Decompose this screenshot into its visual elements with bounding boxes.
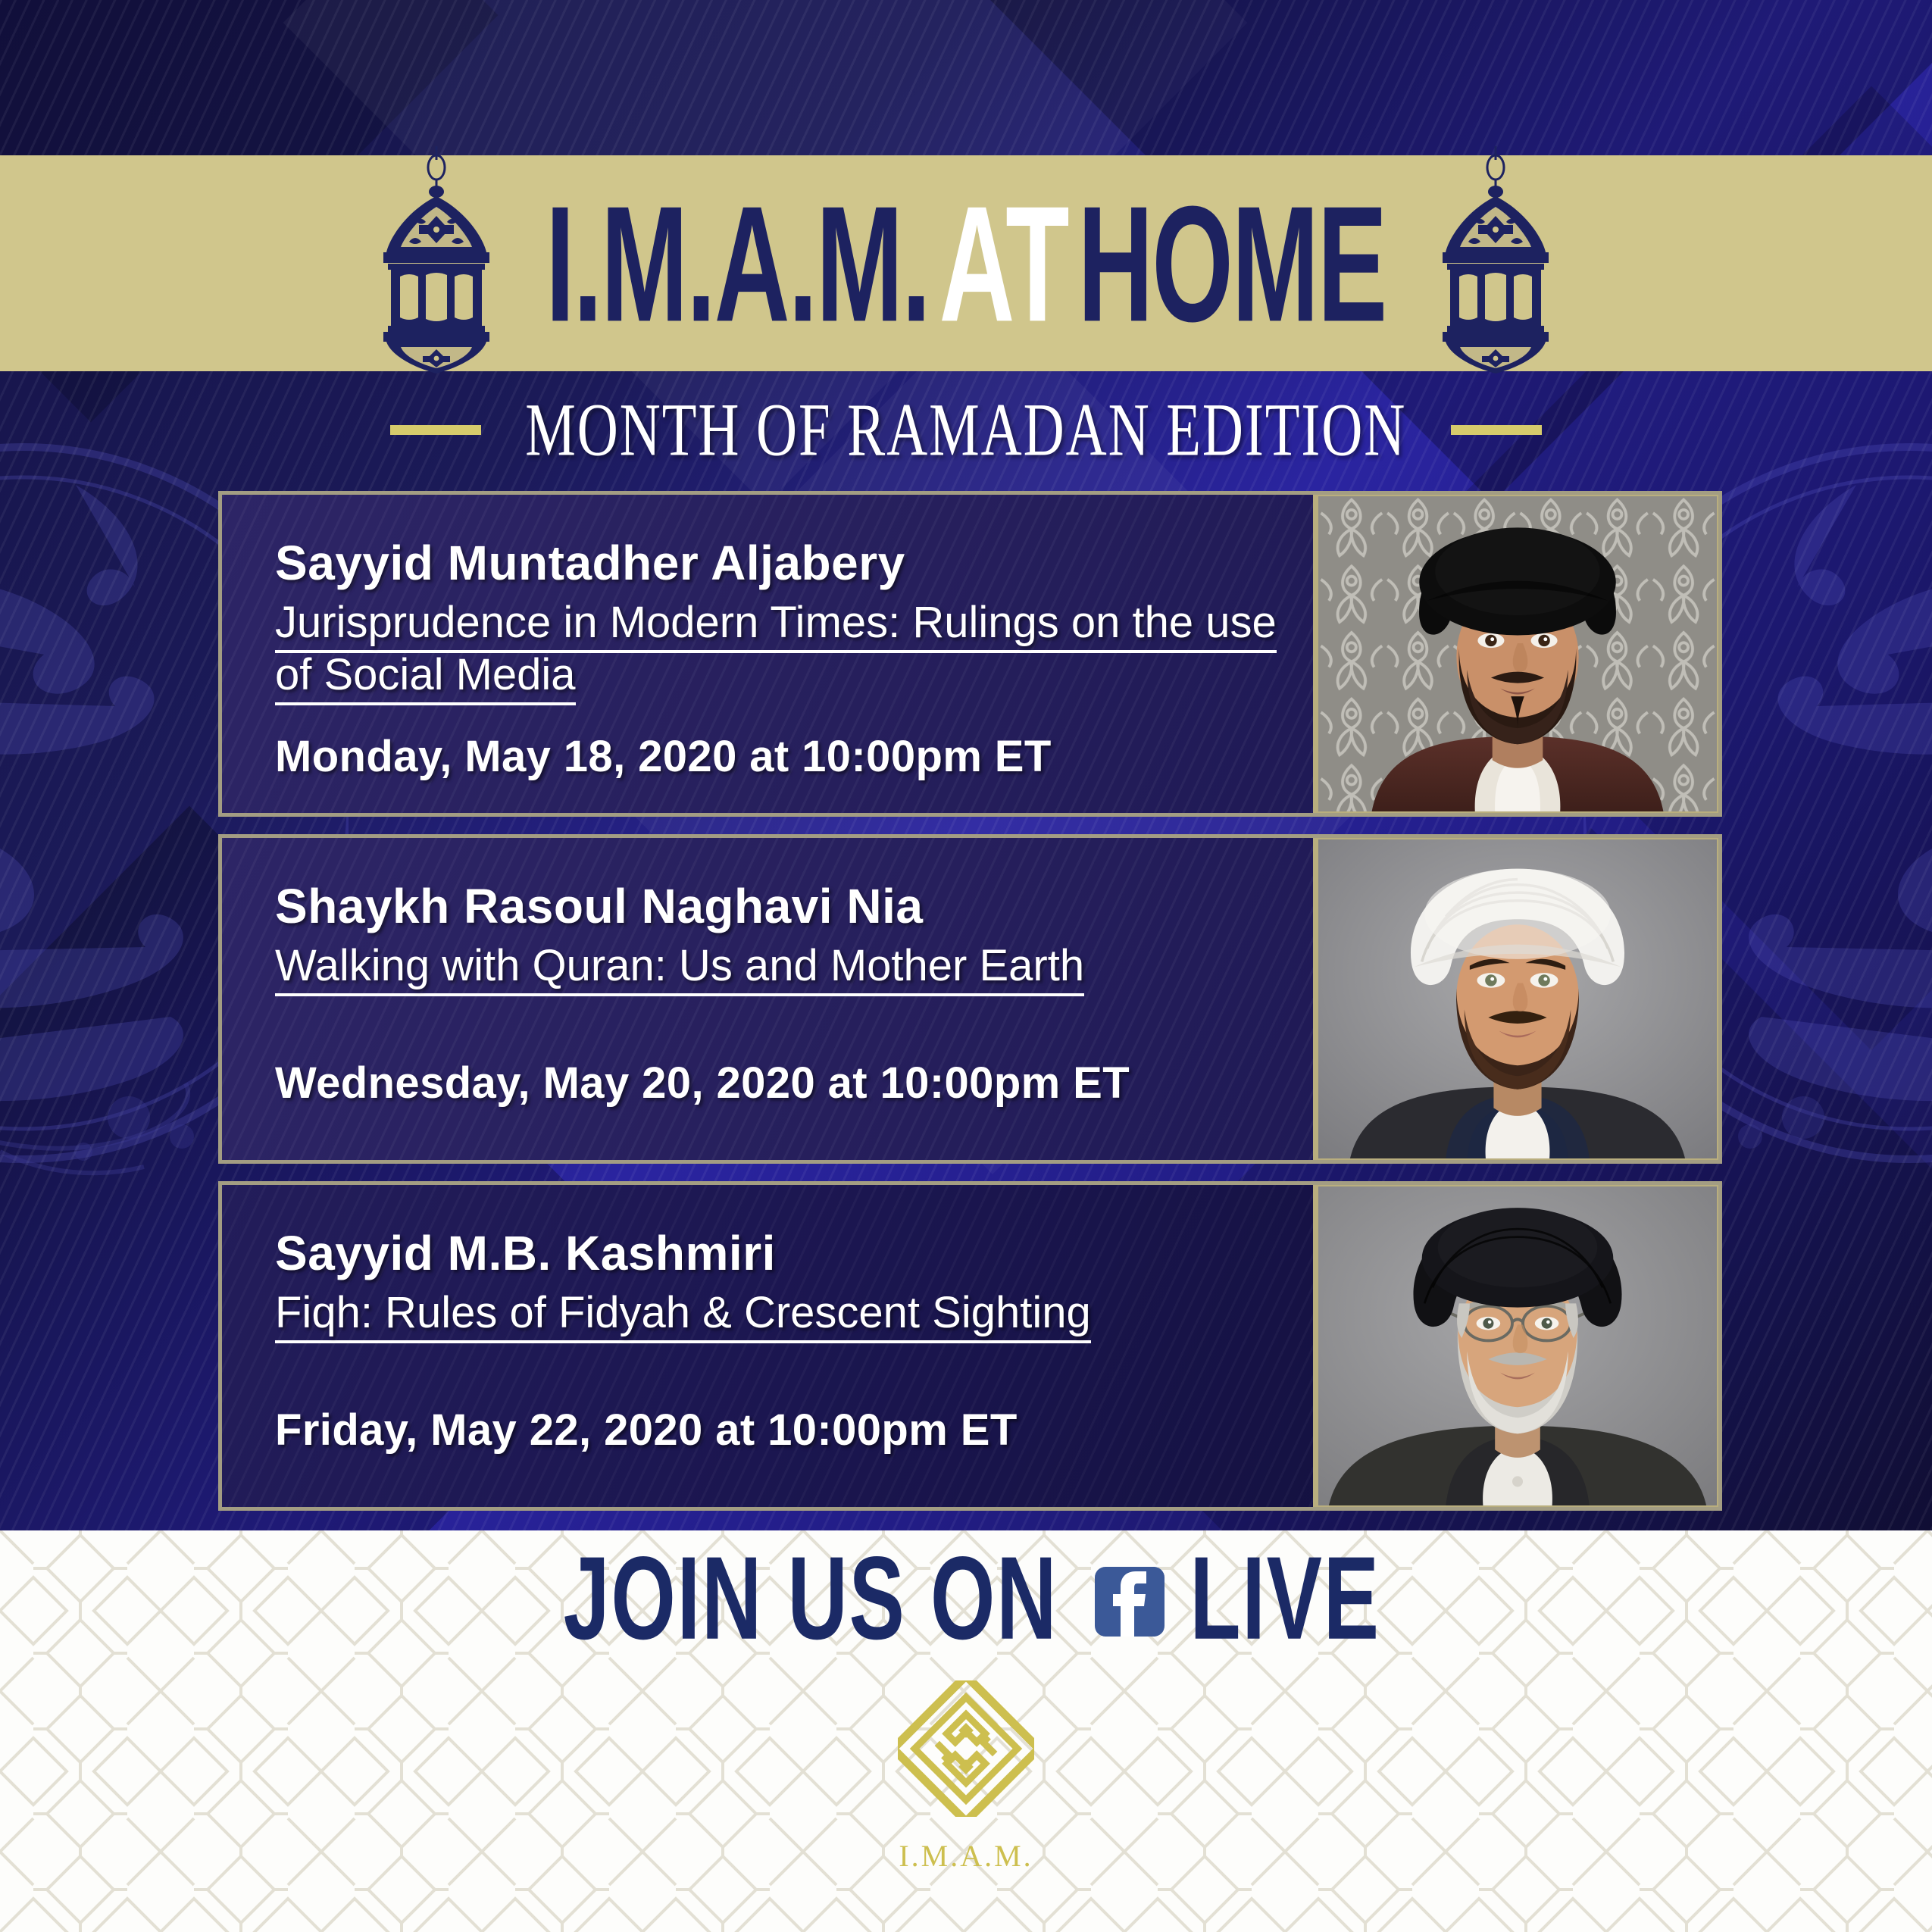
title-home: HOME <box>1078 181 1386 346</box>
speaker-name: Sayyid Muntadher Aljabery <box>275 539 1283 588</box>
speaker-name: Shaykh Rasoul Naghavi Nia <box>275 882 1283 931</box>
session-datetime: Wednesday, May 20, 2020 at 10:00pm ET <box>275 1058 1283 1108</box>
ramadan-lantern-icon <box>376 146 497 374</box>
session-card[interactable]: Sayyid Muntadher Aljabery Jurisprudence … <box>218 491 1722 817</box>
session-topic: Jurisprudence in Modern Times: Rulings o… <box>275 597 1283 701</box>
speaker-photo <box>1313 834 1722 1164</box>
session-datetime: Monday, May 18, 2020 at 10:00pm ET <box>275 731 1283 782</box>
session-card[interactable]: Shaykh Rasoul Naghavi Nia Walking with Q… <box>218 834 1722 1164</box>
speaker-photo <box>1313 1181 1722 1511</box>
subtitle-row: MONTH OF RAMADAN EDITION <box>0 388 1932 471</box>
facebook-live-cta[interactable]: JOIN US ON LIVE <box>545 1547 1387 1650</box>
session-list: Sayyid Muntadher Aljabery Jurisprudence … <box>218 491 1722 1511</box>
gold-dash-icon <box>1451 425 1542 435</box>
session-topic: Fiqh: Rules of Fidyah & Crescent Sightin… <box>275 1287 1283 1339</box>
topic-line: Jurisprudence in Modern Times: Rulings o… <box>275 598 1277 653</box>
title-imam: I.M.A.M. <box>546 181 930 346</box>
poster-canvas: I.M.A.M. AT HOME <box>0 0 1932 1932</box>
title-at: AT <box>939 181 1068 346</box>
header-band: I.M.A.M. AT HOME <box>0 155 1932 371</box>
session-details: Shaykh Rasoul Naghavi Nia Walking with Q… <box>222 838 1313 1160</box>
imam-diamond-logo-icon: I.M.A.M. <box>898 1680 1034 1874</box>
cta-text-after: LIVE <box>1190 1530 1380 1667</box>
ramadan-lantern-icon <box>1435 146 1556 374</box>
session-card[interactable]: Sayyid M.B. Kashmiri Fiqh: Rules of Fidy… <box>218 1181 1722 1511</box>
session-datetime: Friday, May 22, 2020 at 10:00pm ET <box>275 1405 1283 1455</box>
subtitle-text: MONTH OF RAMADAN EDITION <box>525 386 1406 473</box>
session-topic: Walking with Quran: Us and Mother Earth <box>275 940 1283 992</box>
topic-line: Fiqh: Rules of Fidyah & Crescent Sightin… <box>275 1288 1091 1343</box>
speaker-photo <box>1313 491 1722 817</box>
facebook-f-icon[interactable] <box>1095 1567 1165 1637</box>
topic-line: Walking with Quran: Us and Mother Earth <box>275 941 1084 996</box>
cta-text-before: JOIN US ON <box>563 1530 1058 1667</box>
speaker-name: Sayyid M.B. Kashmiri <box>275 1229 1283 1278</box>
logo-caption: I.M.A.M. <box>899 1838 1033 1874</box>
gold-dash-icon <box>390 425 481 435</box>
page-title: I.M.A.M. AT HOME <box>535 181 1397 346</box>
session-details: Sayyid Muntadher Aljabery Jurisprudence … <box>222 495 1313 813</box>
footer: JOIN US ON LIVE <box>0 1530 1932 1932</box>
topic-line: of Social Media <box>275 650 576 705</box>
session-details: Sayyid M.B. Kashmiri Fiqh: Rules of Fidy… <box>222 1185 1313 1507</box>
